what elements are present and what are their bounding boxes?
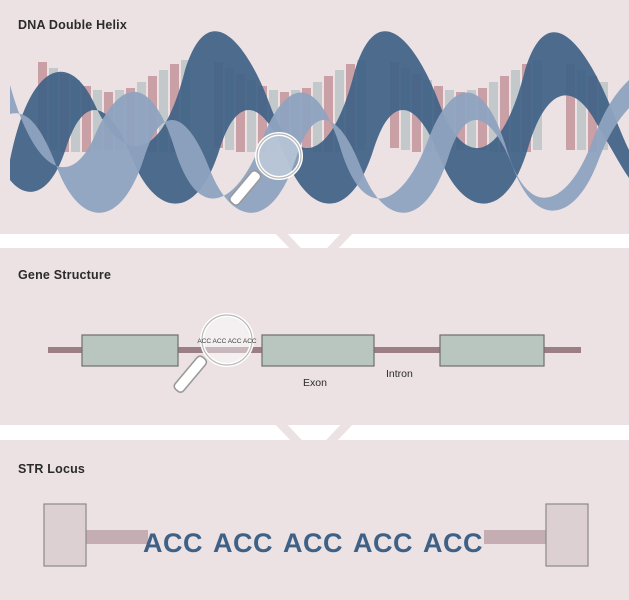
panel-dna-double-helix	[0, 0, 629, 234]
str-repeat-2: ACC	[213, 528, 273, 559]
magnifier-icon[interactable]: ACC ACC ACC ACC	[165, 312, 270, 412]
panel-str-title: STR Locus	[18, 462, 85, 476]
magnifier-sequence-text: ACC ACC ACC ACC	[197, 338, 257, 345]
panel-dna-title: DNA Double Helix	[18, 18, 127, 32]
dna-str-diagram: DNA Double Helix	[0, 0, 629, 600]
str-connector-right	[484, 530, 552, 544]
exon-box-1[interactable]	[82, 335, 178, 366]
exon-box-2[interactable]	[262, 335, 374, 366]
exon-box-3[interactable]	[440, 335, 544, 366]
intron-label: Intron	[386, 368, 413, 380]
str-repeat-5: ACC	[423, 528, 483, 559]
str-connector-left	[80, 530, 148, 544]
exon-label: Exon	[303, 377, 327, 389]
str-repeat-1: ACC	[143, 528, 203, 559]
flanking-region-right[interactable]	[546, 504, 588, 566]
panel-gene-title: Gene Structure	[18, 268, 111, 282]
str-repeat-4: ACC	[353, 528, 413, 559]
str-repeat-3: ACC	[283, 528, 343, 559]
flanking-region-left[interactable]	[44, 504, 86, 566]
magnifier-icon[interactable]	[222, 130, 312, 225]
